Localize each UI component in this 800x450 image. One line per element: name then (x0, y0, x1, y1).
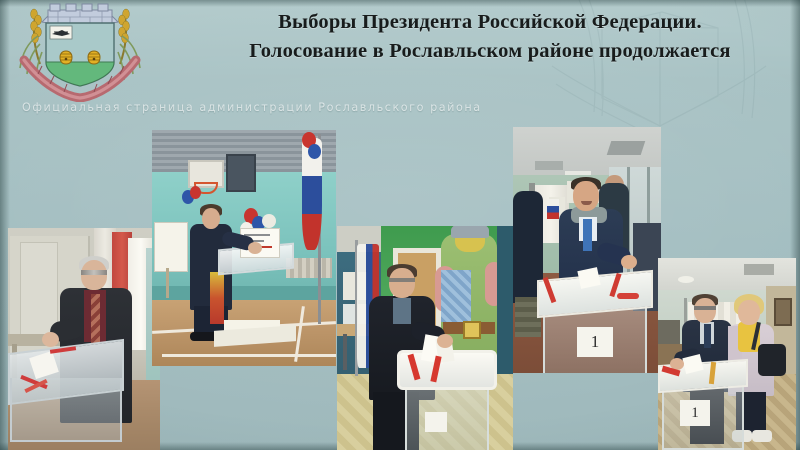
photo-1 (8, 228, 160, 450)
russian-flag (547, 199, 559, 219)
glasses-icon (389, 278, 415, 282)
voter-head (389, 268, 415, 298)
page-title-line-1: Выборы Президента Российской Федерации. (278, 11, 702, 33)
site-watermark: Официальная страница администрации Росла… (22, 101, 482, 114)
photo-4: 1 (513, 127, 661, 373)
beehive-left (60, 51, 72, 64)
page-title-line-2: Голосование в Рославльском районе продол… (190, 37, 790, 66)
shield (46, 23, 114, 86)
ballot-box-number: 1 (680, 400, 710, 426)
glasses-icon (81, 270, 107, 275)
voter-head (81, 260, 107, 290)
voter-head (573, 181, 599, 211)
photo-3 (337, 226, 513, 450)
balloon (190, 186, 201, 199)
glasses-icon (694, 306, 716, 310)
screenshot-root: Выборы Президента Российской Федерации. … (0, 0, 800, 450)
beehive-right (88, 51, 100, 64)
handbag (758, 344, 786, 376)
voter-head (202, 208, 220, 229)
mural-crown (42, 4, 118, 23)
photo-2 (152, 130, 336, 366)
voter-male-head (694, 298, 716, 323)
coat-of-arms-emblem (12, 2, 148, 102)
page-title: Выборы Президента Российской Федерации. … (190, 8, 790, 66)
photo-5: 1 (658, 258, 796, 450)
ballot-box-number: 1 (577, 327, 613, 357)
